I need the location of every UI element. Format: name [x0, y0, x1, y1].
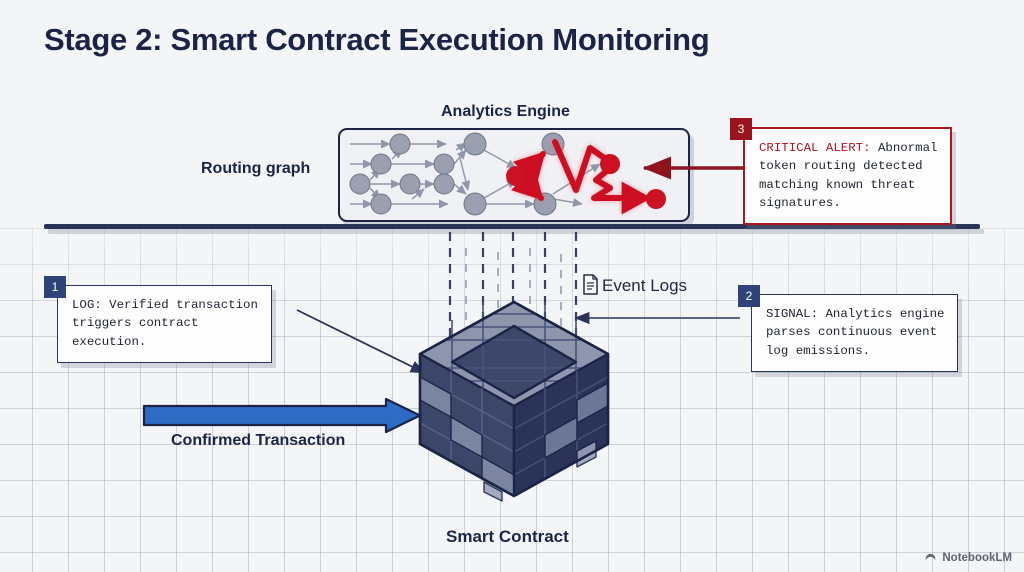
- callout-alert-text: CRITICAL ALERT: Abnormal token routing d…: [743, 127, 952, 225]
- callout-signal-badge: 2: [738, 285, 760, 307]
- event-logs-label: Event Logs: [602, 276, 687, 296]
- slide-canvas: Stage 2: Smart Contract Execution Monito…: [0, 0, 1024, 572]
- confirmed-transaction-arrow: [142, 398, 422, 434]
- callout-alert-badge: 3: [730, 118, 752, 140]
- document-icon: [582, 274, 599, 295]
- smart-contract-cube: [414, 296, 614, 508]
- routing-graph: [338, 128, 686, 218]
- callout-alert-keyword: CRITICAL ALERT:: [759, 141, 871, 155]
- callout-signal-text: SIGNAL: Analytics engine parses continuo…: [751, 294, 958, 372]
- routing-graph-label: Routing graph: [201, 160, 310, 178]
- watermark: NotebookLM: [924, 551, 1012, 564]
- callout-log-badge: 1: [44, 276, 66, 298]
- page-title: Stage 2: Smart Contract Execution Monito…: [44, 22, 709, 58]
- smart-contract-label: Smart Contract: [446, 527, 569, 547]
- analytics-engine-label: Analytics Engine: [441, 103, 570, 121]
- watermark-text: NotebookLM: [942, 552, 1012, 564]
- confirmed-transaction-label: Confirmed Transaction: [171, 432, 345, 450]
- callout-log-text: LOG: Verified transaction triggers contr…: [57, 285, 272, 363]
- notebooklm-logo-icon: [924, 551, 937, 564]
